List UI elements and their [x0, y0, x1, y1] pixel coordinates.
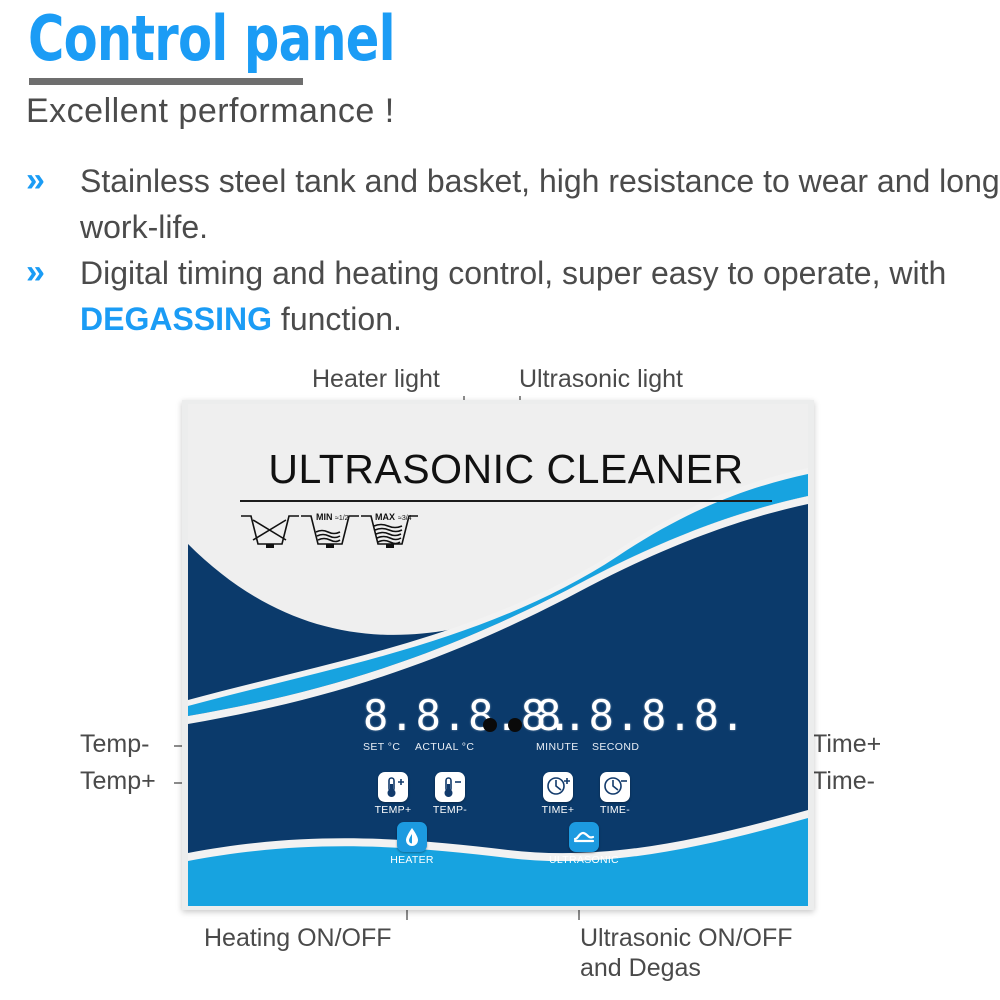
chevron-double-right-icon: » [26, 256, 70, 290]
time-minus-button[interactable] [600, 772, 630, 802]
subtitle: Excellent performance ! [26, 92, 395, 131]
feature-bullet-1-text: Stainless steel tank and basket, high re… [80, 158, 1000, 250]
temp-minus-button[interactable] [435, 772, 465, 802]
time-display-digits: 8.8.8.8. [536, 694, 646, 738]
time-plus-label: TIME+ [529, 804, 587, 816]
thermometer-minus-icon [435, 772, 465, 802]
callout-ultrasonic-light: Ultrasonic light [519, 363, 683, 395]
heater-button[interactable] [397, 822, 427, 852]
bullet-2-text-after: function. [272, 301, 402, 337]
temp-plus-label: TEMP+ [364, 804, 422, 816]
callout-temp-minus: Temp- [80, 728, 149, 760]
temp-set-caption: SET °C [363, 741, 400, 753]
water-drop-icon [397, 822, 427, 852]
page-title: Control panel [28, 8, 395, 70]
clock-minus-icon [600, 772, 630, 802]
ultrasonic-indicator-led [508, 718, 522, 732]
clock-plus-icon [543, 772, 573, 802]
svg-text:≈3/4: ≈3/4 [398, 515, 412, 522]
ultrasonic-label: ULTRASONIC [544, 854, 624, 866]
temp-minus-label: TEMP- [421, 804, 479, 816]
title-underline-rule [29, 78, 303, 85]
device-title: ULTRASONIC CLEANER [236, 446, 776, 493]
svg-text:≈1/2: ≈1/2 [335, 515, 349, 522]
time-display: 8.8.8.8. MINUTE SECOND [536, 694, 646, 738]
bullet-2-text-before: Digital timing and heating control, supe… [80, 255, 946, 291]
temp-display-separator [416, 696, 418, 736]
time-plus-button[interactable] [543, 772, 573, 802]
svg-text:MAX: MAX [375, 512, 395, 522]
device-title-rule [240, 500, 772, 502]
empty-tank-icon [241, 516, 299, 548]
callout-ultrasonic-on-off-line2: and Degas [580, 952, 701, 984]
time-second-caption: SECOND [592, 741, 639, 753]
degassing-highlight: DEGASSING [80, 301, 272, 337]
chevron-double-right-icon: » [26, 164, 70, 198]
callout-ultrasonic-on-off-line1: Ultrasonic ON/OFF [580, 922, 793, 954]
bullet-1-text-main: Stainless steel tank and basket, high re… [80, 163, 1000, 245]
temp-plus-button[interactable] [378, 772, 408, 802]
feature-bullet-2-text: Digital timing and heating control, supe… [80, 250, 1000, 342]
ultrasonic-button[interactable] [569, 822, 599, 852]
callout-temp-plus: Temp+ [80, 765, 156, 797]
tank-level-icons: MIN ≈1/2 MAX ≈3/4 [238, 508, 418, 552]
thermometer-plus-icon [378, 772, 408, 802]
wave-icon [569, 822, 599, 852]
svg-text:MIN: MIN [316, 512, 333, 522]
time-display-separator [589, 696, 591, 736]
control-panel-face: ULTRASONIC CLEANER MIN ≈1/2 [188, 404, 808, 906]
heater-label: HEATER [382, 854, 442, 866]
heater-indicator-led [483, 718, 497, 732]
time-minute-caption: MINUTE [536, 741, 579, 753]
callout-time-plus: Time+ [812, 728, 881, 760]
callout-heating-on-off: Heating ON/OFF [204, 922, 392, 954]
callout-time-minus: Time- [812, 765, 875, 797]
callout-heater-light: Heater light [312, 363, 440, 395]
temp-actual-caption: ACTUAL °C [415, 741, 474, 753]
temp-display-digits: 8.8.8.8. [363, 694, 473, 738]
temperature-display: 8.8.8.8. SET °C ACTUAL °C [363, 694, 473, 738]
time-minus-label: TIME- [586, 804, 644, 816]
control-panel-device: ULTRASONIC CLEANER MIN ≈1/2 [182, 400, 814, 910]
